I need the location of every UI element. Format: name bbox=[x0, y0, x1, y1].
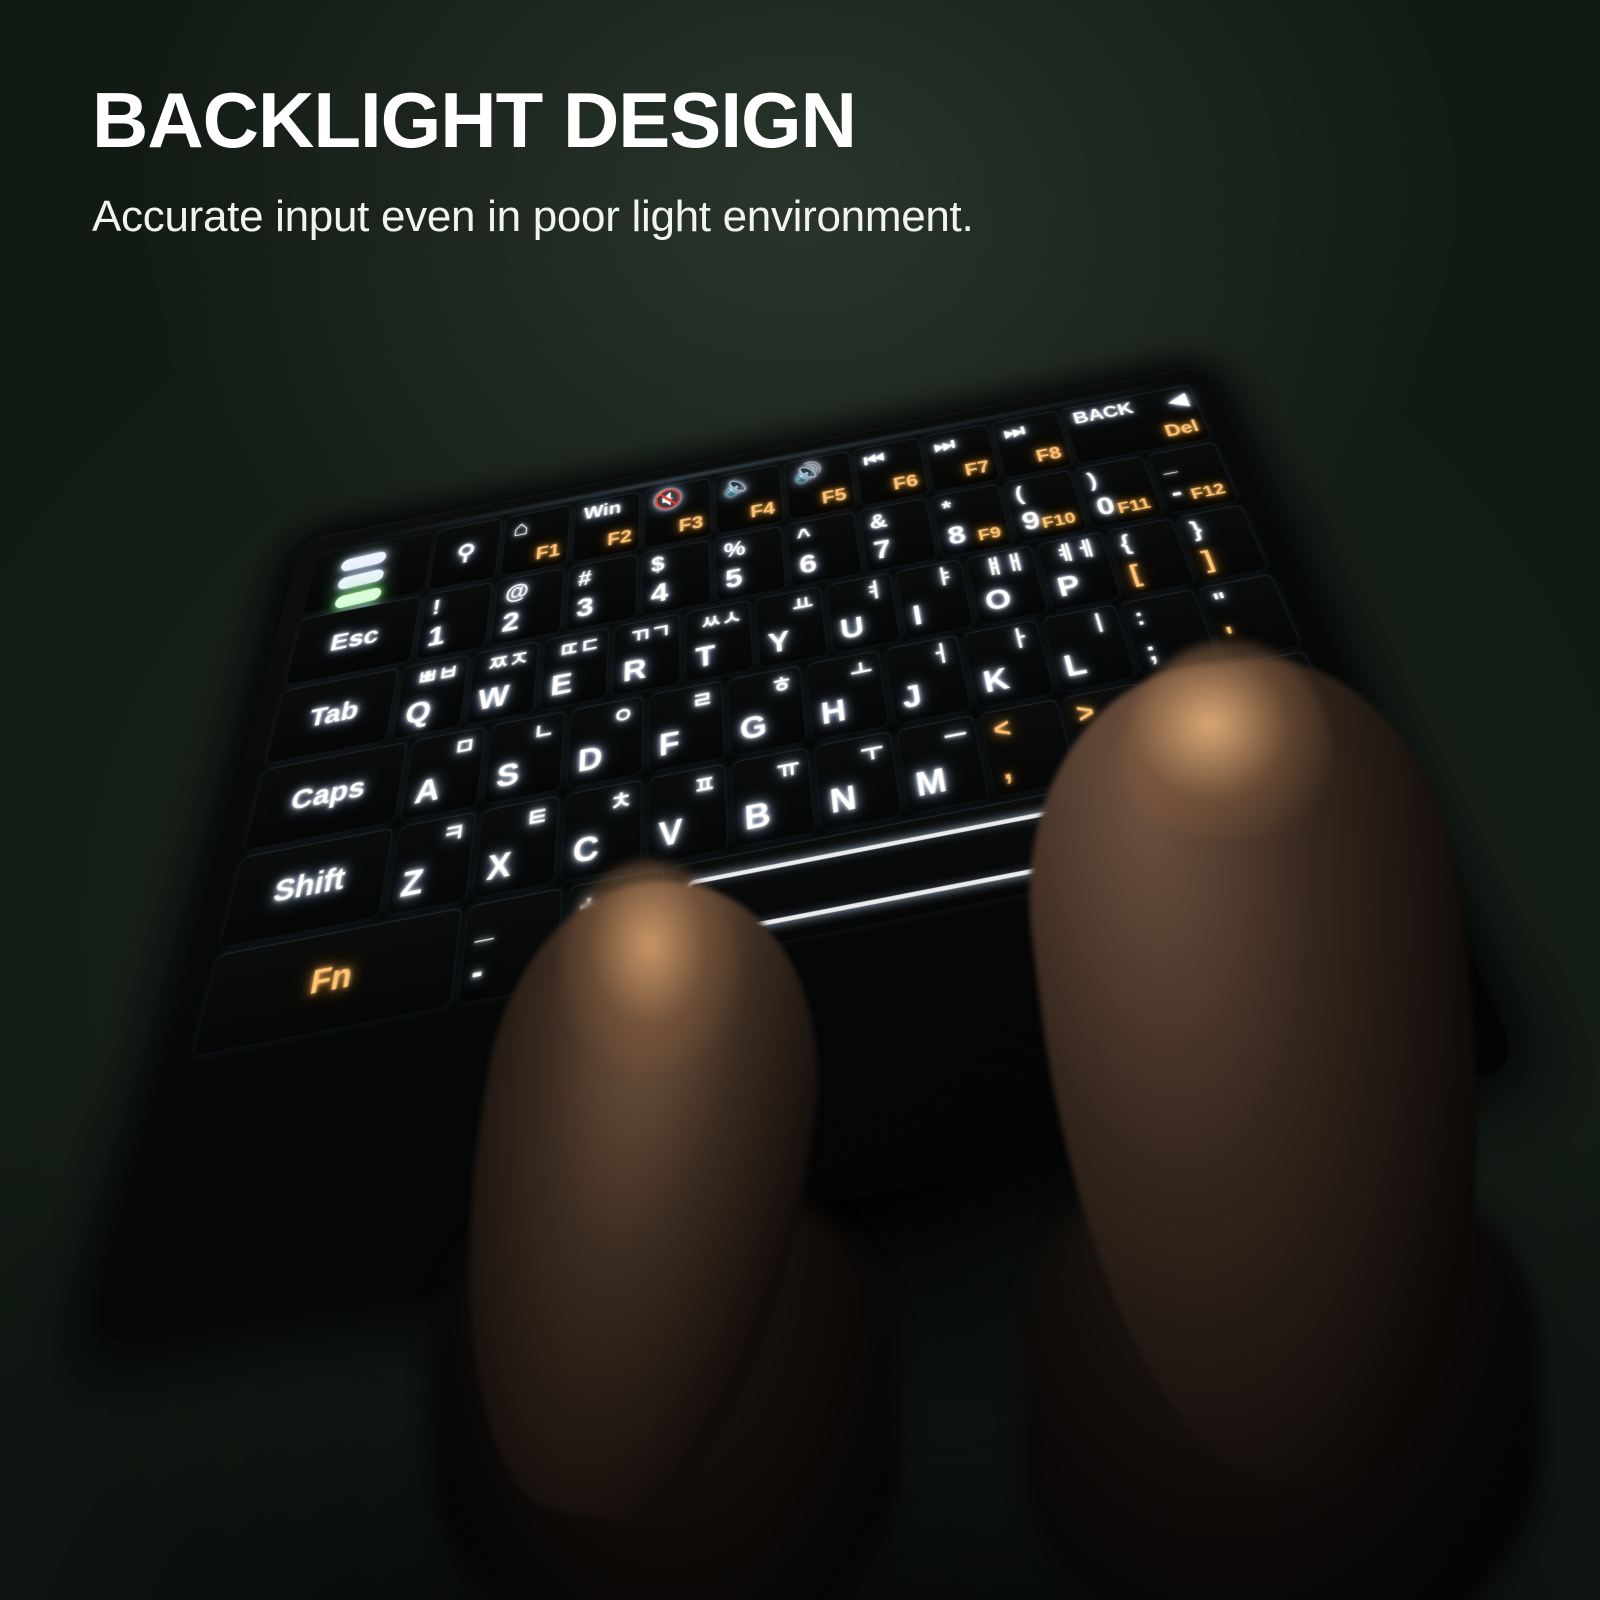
key-g-hangul: ㅎ bbox=[770, 673, 794, 698]
key-i-hangul: ㅑ bbox=[932, 566, 956, 589]
key-b[interactable]: B ㅠ bbox=[732, 747, 815, 846]
key-t-label: T bbox=[695, 641, 716, 673]
key-m-label: M bbox=[913, 763, 949, 803]
key-p-label: P bbox=[1054, 570, 1084, 601]
key-f-label: F bbox=[659, 726, 680, 762]
key-caps-lock[interactable]: Caps bbox=[245, 742, 408, 850]
key-bracket-right-label: ] bbox=[1199, 548, 1218, 573]
key-minus-top-fn-label: F12 bbox=[1188, 481, 1227, 502]
key-period-shifted: > bbox=[1074, 699, 1097, 728]
page-subtitle: Accurate input even in poor light enviro… bbox=[92, 192, 1392, 242]
key-y-label: Y bbox=[767, 626, 791, 658]
key-f[interactable]: F ㄹ bbox=[649, 681, 724, 772]
key-i-label: I bbox=[911, 601, 925, 630]
keyboard-row-function: ⚲ ⌂ F1 Win F2 🔇 F3 🔈 F4 bbox=[303, 385, 1211, 614]
key-o-hangul: ㅒㅐ bbox=[982, 552, 1028, 578]
key-prev-track-fn-label: F6 bbox=[892, 472, 919, 493]
key-d-label: D bbox=[577, 741, 603, 778]
key-a[interactable]: A ㅁ bbox=[402, 726, 486, 819]
keyboard-row-home: Caps A ㅁ S ㄴ D ㅇ F ㄹ bbox=[245, 574, 1302, 850]
key-6-shifted: ^ bbox=[796, 525, 812, 547]
key-slash[interactable]: ? / bbox=[1146, 667, 1251, 762]
key-w-hangul: ㅉㅈ bbox=[487, 648, 531, 676]
key-x-label: X bbox=[485, 846, 513, 887]
key-m-hangul: ㅡ bbox=[942, 723, 969, 750]
volume-up-icon: 🔊 bbox=[793, 461, 824, 484]
key-g[interactable]: G ㅎ bbox=[728, 665, 807, 755]
key-backspace-label: BACK bbox=[1071, 401, 1136, 427]
key-comma-shifted: < bbox=[991, 715, 1013, 744]
key-volume-down-fn-label: F4 bbox=[750, 500, 776, 521]
key-e-label: E bbox=[549, 668, 573, 701]
key-p-hangul: ㅖㅔ bbox=[1052, 539, 1099, 565]
led-indicator-4 bbox=[331, 605, 380, 629]
key-slash-label: / bbox=[1169, 721, 1188, 752]
key-arrow-up[interactable]: ▲ PgUp bbox=[1229, 651, 1339, 745]
key-mute-fn-label: F3 bbox=[679, 514, 704, 535]
keyboard-row-bottom: Fn _ - + = ▼ PgDn ▶ bbox=[193, 737, 1379, 1056]
keyboard-row-zxcv: Shift Z ㅋ X ㅌ C ㅊ V ㅍ bbox=[220, 651, 1338, 947]
key-o-label: O bbox=[982, 584, 1014, 616]
key-volume-down[interactable]: 🔈 F4 bbox=[716, 464, 784, 533]
key-2-shifted: @ bbox=[504, 580, 530, 605]
key-w[interactable]: W ㅉㅈ bbox=[467, 641, 540, 724]
left-thumb-lit bbox=[556, 860, 741, 1070]
key-x[interactable]: X ㅌ bbox=[474, 796, 559, 898]
key-play-pause[interactable]: ⏭ F7 bbox=[923, 424, 1000, 491]
key-minus-top[interactable]: _ - F12 bbox=[1148, 442, 1239, 513]
key-k[interactable]: K ㅏ bbox=[964, 620, 1054, 708]
key-2[interactable]: @ 2 bbox=[491, 568, 564, 645]
key-comma[interactable]: < , bbox=[980, 699, 1076, 796]
key-c[interactable]: C ㅊ bbox=[561, 779, 642, 880]
key-o[interactable]: O ㅒㅐ bbox=[967, 546, 1048, 625]
key-g-label: G bbox=[739, 709, 768, 745]
key-4-shifted: $ bbox=[651, 554, 665, 576]
right-hand bbox=[1002, 637, 1529, 1503]
key-z-label: Z bbox=[398, 863, 426, 904]
led-indicator-panel bbox=[303, 532, 432, 614]
key-l-hangul: ㅣ bbox=[1085, 612, 1113, 636]
status-leds bbox=[331, 550, 387, 629]
key-r-hangul: ㄲㄱ bbox=[629, 621, 671, 648]
key-4[interactable]: $ 4 bbox=[642, 540, 711, 616]
key-bracket-left-label: [ bbox=[1127, 562, 1145, 588]
key-shift-left-label: Shift bbox=[270, 863, 347, 909]
mute-icon: 🔇 bbox=[654, 488, 683, 511]
key-quote-label: ' bbox=[1223, 623, 1240, 650]
key-u[interactable]: U ㅕ bbox=[826, 573, 901, 653]
key-escape-label: Esc bbox=[328, 623, 381, 656]
deck-edge-highlight bbox=[352, 385, 1155, 544]
key-win-fn-label: F2 bbox=[607, 528, 632, 549]
key-q[interactable]: Q ㅃㅂ bbox=[393, 655, 469, 739]
key-s-hangul: ㄴ bbox=[532, 719, 556, 745]
key-v[interactable]: V ㅍ bbox=[649, 763, 729, 863]
copy-block: BACKLIGHT DESIGN Accurate input even in … bbox=[92, 80, 1392, 242]
key-z[interactable]: Z ㅋ bbox=[387, 812, 476, 915]
key-r-label: R bbox=[623, 654, 647, 687]
key-5-label: 5 bbox=[725, 564, 744, 593]
key-tab-label: Tab bbox=[307, 697, 361, 732]
key-next-track[interactable]: ⏭ F8 bbox=[993, 411, 1073, 478]
key-escape[interactable]: Esc bbox=[286, 596, 421, 685]
key-k-hangul: ㅏ bbox=[1006, 627, 1033, 652]
key-h[interactable]: H ㅗ bbox=[807, 650, 889, 739]
key-9-label: 9 bbox=[1019, 507, 1043, 535]
spacebar-outline bbox=[685, 795, 1147, 941]
key-9-fn-label: F10 bbox=[1040, 510, 1078, 532]
key-q-label: Q bbox=[403, 695, 433, 729]
key-delete-label: Del bbox=[1162, 418, 1201, 440]
key-3-shifted: # bbox=[577, 568, 592, 590]
key-a-label: A bbox=[413, 772, 443, 809]
key-shift-left[interactable]: Shift bbox=[220, 828, 393, 947]
left-hand bbox=[422, 858, 848, 1542]
key-m[interactable]: M ㅡ bbox=[898, 715, 990, 813]
key-2-label: 2 bbox=[501, 607, 521, 637]
prev-track-icon: ⏮ bbox=[862, 449, 886, 470]
key-7-shifted: & bbox=[868, 511, 889, 533]
key-comma-label: , bbox=[999, 754, 1014, 786]
key-fn-label: Fn bbox=[307, 958, 355, 1002]
key-semicolon[interactable]: : ; bbox=[1121, 589, 1219, 675]
key-n-label: N bbox=[828, 780, 858, 820]
key-h-label: H bbox=[820, 694, 848, 730]
key-period-label: . bbox=[1084, 738, 1101, 769]
key-c-label: C bbox=[572, 829, 600, 870]
key-bracket-left[interactable]: { [ bbox=[1107, 518, 1195, 595]
key-s-label: S bbox=[495, 757, 521, 794]
key-r[interactable]: R ㄲㄱ bbox=[614, 614, 681, 696]
key-l[interactable]: L ㅣ bbox=[1042, 604, 1136, 691]
key-0-label: 0 bbox=[1093, 493, 1118, 521]
key-w-label: W bbox=[476, 680, 510, 715]
key-page-down-label: PgDn bbox=[1181, 816, 1251, 851]
key-a-hangul: ㅁ bbox=[452, 734, 477, 760]
key-grid: ⚲ ⌂ F1 Win F2 🔇 F3 🔈 F4 bbox=[133, 385, 1471, 1298]
key-semicolon-label: ; bbox=[1142, 638, 1161, 666]
arrow-up-icon: ▲ bbox=[1240, 665, 1278, 695]
left-arm bbox=[430, 1180, 900, 1600]
key-prev-track[interactable]: ⏮ F6 bbox=[854, 438, 928, 506]
key-u-hangul: ㅕ bbox=[862, 580, 886, 603]
key-quote-shifted: " bbox=[1210, 589, 1231, 614]
key-backspace[interactable]: BACK ◀ Del bbox=[1062, 385, 1212, 463]
key-0-shifted: ) bbox=[1085, 470, 1099, 490]
key-y[interactable]: Y ㅛ bbox=[756, 586, 827, 667]
key-win[interactable]: Win F2 bbox=[573, 491, 640, 561]
key-e-hangul: ㄸㄷ bbox=[558, 635, 601, 663]
key-bracket-left-shifted: { bbox=[1117, 532, 1134, 554]
key-home-label: F1 bbox=[535, 542, 561, 564]
key-p[interactable]: P ㅖㅔ bbox=[1037, 532, 1122, 610]
key-1-label: 1 bbox=[425, 621, 446, 651]
led-indicator-1 bbox=[340, 550, 387, 572]
right-thumb-lit bbox=[1122, 640, 1332, 840]
key-h-hangul: ㅗ bbox=[849, 658, 874, 683]
key-7[interactable]: & 7 bbox=[859, 498, 937, 572]
led-indicator-2 bbox=[337, 568, 384, 591]
arrow-down-icon: ▼ bbox=[1159, 774, 1198, 808]
key-equals-label: = bbox=[576, 932, 597, 971]
key-6[interactable]: ^ 6 bbox=[787, 512, 862, 586]
play-pause-icon: ⏭ bbox=[932, 435, 957, 456]
key-fn[interactable]: Fn bbox=[193, 908, 461, 1056]
key-x-hangul: ㅌ bbox=[525, 804, 550, 833]
keyboard-row-numbers: Esc ! 1 @ 2 # 3 $ 4 bbox=[286, 442, 1239, 685]
backspace-arrow-icon: ◀ bbox=[1165, 390, 1190, 410]
key-dash-label: - bbox=[470, 954, 485, 992]
key-minus-top-label: - bbox=[1167, 480, 1187, 506]
key-next-track-fn-label: F8 bbox=[1034, 445, 1063, 465]
key-8-label: 8 bbox=[946, 521, 969, 549]
key-volume-up[interactable]: 🔊 F5 bbox=[785, 451, 856, 519]
key-3[interactable]: # 3 bbox=[567, 554, 637, 630]
key-1[interactable]: ! 1 bbox=[416, 582, 493, 659]
key-tab[interactable]: Tab bbox=[266, 668, 399, 763]
key-1-shifted: ! bbox=[431, 597, 442, 619]
key-i[interactable]: I ㅑ bbox=[896, 559, 974, 638]
key-b-label: B bbox=[743, 796, 771, 836]
keyboard-chassis bbox=[88, 365, 1522, 1347]
key-7-label: 7 bbox=[872, 536, 893, 564]
key-5[interactable]: % 5 bbox=[715, 526, 786, 601]
key-d-hangul: ㅇ bbox=[612, 704, 634, 730]
key-j-hangul: ㅓ bbox=[928, 642, 954, 667]
key-bracket-right-shifted: } bbox=[1188, 519, 1206, 541]
key-5-shifted: % bbox=[723, 538, 746, 562]
key-volume-up-fn-label: F5 bbox=[821, 486, 848, 507]
next-track-icon: ⏭ bbox=[1002, 422, 1028, 443]
key-semicolon-shifted: : bbox=[1131, 605, 1147, 629]
key-equals[interactable]: + = bbox=[565, 868, 664, 983]
home-icon: ⌂ bbox=[512, 517, 530, 540]
right-arm bbox=[1020, 1150, 1540, 1600]
keyboard-drop-shadow bbox=[200, 1020, 1380, 1440]
power-bulb-icon: ⚲ bbox=[455, 541, 477, 566]
key-n-hangul: ㅜ bbox=[859, 740, 885, 768]
volume-down-icon: 🔈 bbox=[723, 474, 753, 497]
page-title: BACKLIGHT DESIGN bbox=[92, 80, 1392, 162]
key-n[interactable]: N ㅜ bbox=[815, 731, 903, 830]
key-play-pause-fn-label: F7 bbox=[963, 459, 991, 480]
key-z-hangul: ㅋ bbox=[440, 820, 466, 849]
key-equals-shifted: + bbox=[578, 888, 599, 925]
key-slash-shifted: ? bbox=[1157, 683, 1183, 711]
key-y-hangul: ㅛ bbox=[791, 593, 814, 616]
arrow-right-icon: ▶ bbox=[1295, 772, 1330, 805]
key-arrow-down[interactable]: ▼ PgDn bbox=[1147, 756, 1273, 865]
key-bracket-right[interactable]: } ] bbox=[1177, 505, 1268, 582]
key-4-label: 4 bbox=[651, 579, 668, 608]
key-v-label: V bbox=[658, 813, 683, 853]
key-minus-top-shifted: _ bbox=[1157, 455, 1178, 476]
key-v-hangul: ㅍ bbox=[693, 772, 717, 800]
key-e[interactable]: E ㄸㄷ bbox=[540, 627, 609, 710]
key-f-hangul: ㄹ bbox=[691, 688, 713, 713]
key-home[interactable]: ⌂ F1 bbox=[501, 505, 571, 576]
key-caps-lock-label: Caps bbox=[288, 773, 367, 816]
key-c-hangul: ㅊ bbox=[609, 788, 633, 816]
key-k-label: K bbox=[980, 663, 1012, 698]
key-spacebar[interactable] bbox=[671, 776, 1165, 963]
key-arrow-right[interactable]: ▶ bbox=[1248, 737, 1380, 845]
key-6-label: 6 bbox=[798, 550, 818, 579]
key-b-hangul: ㅠ bbox=[776, 756, 801, 784]
key-power[interactable]: ⚲ bbox=[429, 518, 502, 589]
key-page-up-label: PgUp bbox=[1258, 703, 1325, 735]
key-0-fn-label: F11 bbox=[1115, 495, 1152, 516]
key-s[interactable]: S ㄴ bbox=[485, 711, 565, 803]
key-period[interactable]: > . bbox=[1063, 683, 1164, 779]
key-dash[interactable]: _ - bbox=[458, 888, 562, 1004]
key-win-label: Win bbox=[583, 500, 621, 523]
key-mute[interactable]: 🔇 F3 bbox=[645, 478, 711, 547]
key-8-fn-label: F9 bbox=[977, 524, 1003, 544]
led-indicator-3-green bbox=[334, 586, 382, 609]
key-t-hangul: ㅆㅅ bbox=[700, 607, 742, 634]
key-3-label: 3 bbox=[576, 593, 595, 622]
key-dash-shifted: _ bbox=[475, 908, 497, 946]
key-q-hangul: ㅃㅂ bbox=[415, 662, 459, 690]
keyboard-row-qwerty: Tab Q ㅃㅂ W ㅉㅈ E ㄸㄷ R ㄲㄱ bbox=[266, 505, 1268, 764]
key-j-label: J bbox=[900, 680, 924, 714]
key-8[interactable]: * 8 F9 bbox=[931, 484, 1012, 557]
keyboard-device: ⚲ ⌂ F1 Win F2 🔇 F3 🔈 F4 bbox=[88, 365, 1522, 1347]
key-8-shifted: * bbox=[940, 498, 953, 519]
key-t[interactable]: T ㅆㅅ bbox=[686, 600, 754, 681]
key-quote[interactable]: " ' bbox=[1199, 574, 1301, 659]
key-9[interactable]: ( 9 F10 bbox=[1004, 470, 1088, 542]
key-d[interactable]: D ㅇ bbox=[567, 696, 643, 787]
key-l-label: L bbox=[1061, 648, 1090, 682]
key-j[interactable]: J ㅓ bbox=[885, 635, 971, 723]
key-9-shifted: ( bbox=[1013, 484, 1026, 504]
key-0[interactable]: ) 0 F11 bbox=[1076, 456, 1164, 528]
key-u-label: U bbox=[839, 612, 866, 644]
